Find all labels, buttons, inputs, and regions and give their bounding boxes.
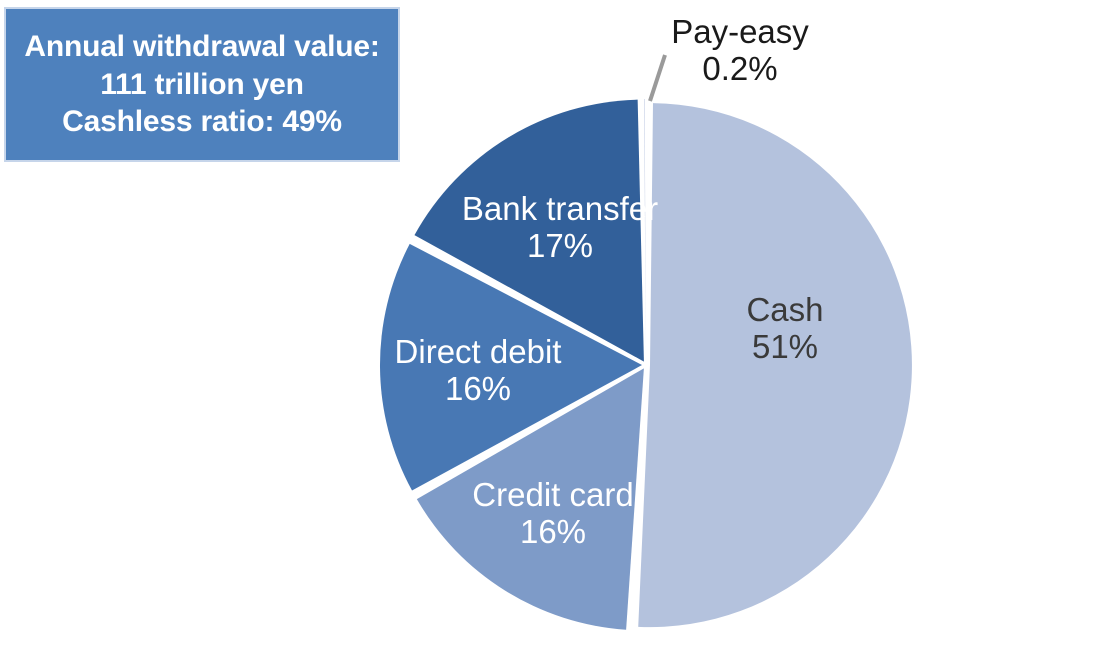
- pie-chart: [0, 0, 1120, 668]
- pie-slice-pay-easy[interactable]: [644, 99, 646, 361]
- pay-easy-leader-line: [650, 55, 665, 101]
- pie-slice-cash[interactable]: [638, 103, 912, 627]
- chart-canvas: Annual withdrawal value: 111 trillion ye…: [0, 0, 1120, 668]
